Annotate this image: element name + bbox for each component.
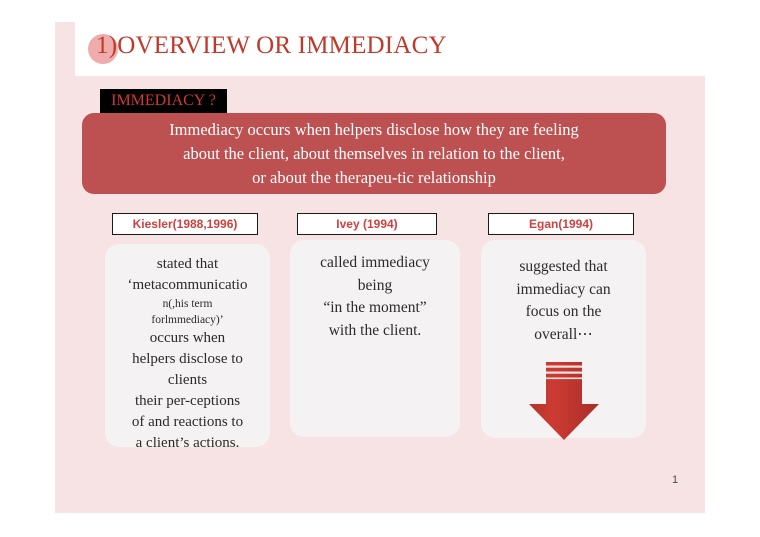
card-line: of and reactions to: [105, 412, 270, 433]
card-line: a client’s actions.: [105, 433, 270, 447]
card-line: overall⋯: [481, 324, 646, 347]
slide-canvas: 1)OVERVIEW OR IMMEDIACY IMMEDIACY ? Imme…: [0, 0, 760, 537]
card-line: immediacy can: [481, 279, 646, 302]
card-line: n(,his term: [105, 296, 270, 312]
card-line: ‘metacommunicatio: [105, 275, 270, 296]
immediacy-question-label: IMMEDIACY ?: [100, 89, 227, 113]
card-line: forlmmediacy)’: [105, 312, 270, 328]
column-header-egan: Egan(1994): [488, 213, 634, 235]
card-line: clients: [105, 370, 270, 391]
card-line: with the client.: [290, 320, 460, 343]
card-line: being: [290, 275, 460, 298]
column-card-kiesler: stated that ‘metacommunicatio n(,his ter…: [105, 244, 270, 447]
column-header-kiesler: Kiesler(1988,1996): [112, 213, 258, 235]
page-title: 1)OVERVIEW OR IMMEDIACY: [96, 32, 656, 60]
column-header-ivey: Ivey (1994): [297, 213, 437, 235]
definition-banner: Immediacy occurs when helpers disclose h…: [82, 113, 666, 194]
column-card-ivey: called immediacy being “in the moment” w…: [290, 240, 460, 437]
page-number: 1: [672, 474, 678, 486]
definition-line-1: Immediacy occurs when helpers disclose h…: [82, 118, 666, 142]
card-line: helpers disclose to: [105, 349, 270, 370]
definition-line-3: or about the therapeu-tic relationship: [82, 166, 666, 190]
definition-line-2: about the client, about themselves in re…: [82, 142, 666, 166]
down-arrow-icon: [523, 360, 605, 442]
card-line: their per-ceptions: [105, 391, 270, 412]
card-line: occurs when: [105, 328, 270, 349]
card-line: “in the moment”: [290, 297, 460, 320]
card-line: suggested that: [481, 256, 646, 279]
card-line: stated that: [105, 254, 270, 275]
card-line: focus on the: [481, 301, 646, 324]
card-line: called immediacy: [290, 252, 460, 275]
